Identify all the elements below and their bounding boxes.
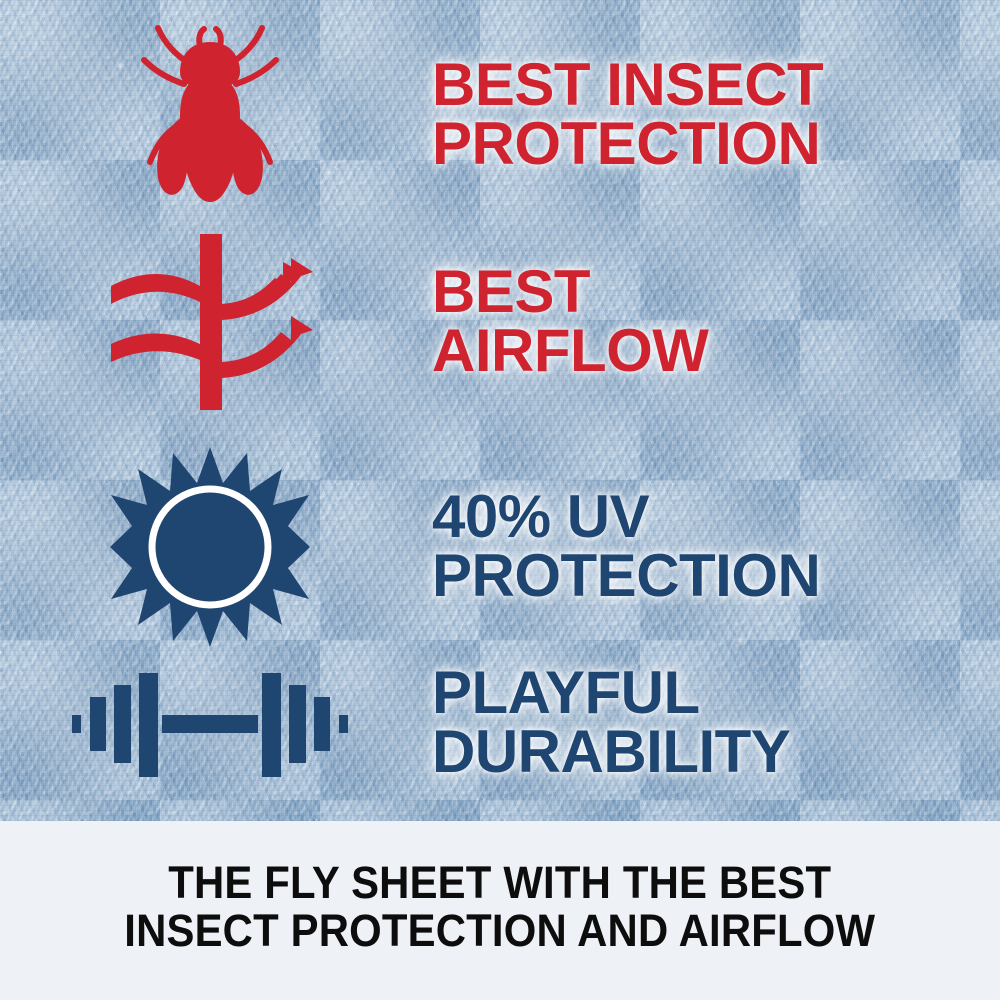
feature-text-cell: BEST INSECT PROTECTION (420, 56, 1000, 174)
feature-text-cell: PLAYFUL DURABILITY (420, 664, 1000, 782)
feature-icon-cell (0, 232, 420, 412)
feature-text-cell: 40% UV PROTECTION (420, 488, 1000, 606)
feature-icon-cell (0, 20, 420, 210)
feature-headline-durability: PLAYFUL DURABILITY (432, 664, 1000, 782)
feature-list: BEST INSECT PROTECTION (0, 0, 1000, 821)
feature-row-airflow: BEST AIRFLOW (0, 222, 1000, 422)
feature-icon-cell (0, 447, 420, 647)
sun-burst-icon (110, 447, 310, 647)
dumbbell-icon (70, 663, 350, 783)
airflow-arrows-icon (105, 232, 315, 412)
feature-text-cell: BEST AIRFLOW (420, 263, 1000, 381)
feature-headline-airflow: BEST AIRFLOW (432, 263, 1000, 381)
caption-text: THE FLY SHEET WITH THE BEST INSECT PROTE… (125, 859, 876, 954)
feature-row-uv-protection: 40% UV PROTECTION (0, 442, 1000, 652)
feature-headline-uv-protection: 40% UV PROTECTION (432, 488, 1000, 606)
feature-row-insect-protection: BEST INSECT PROTECTION (0, 10, 1000, 220)
product-feature-infographic: BEST INSECT PROTECTION (0, 0, 1000, 1000)
feature-icon-cell (0, 663, 420, 783)
caption-band: THE FLY SHEET WITH THE BEST INSECT PROTE… (0, 821, 1000, 1000)
feature-headline-insect-protection: BEST INSECT PROTECTION (432, 56, 1000, 174)
feature-row-durability: PLAYFUL DURABILITY (0, 648, 1000, 798)
fly-icon (130, 20, 290, 210)
